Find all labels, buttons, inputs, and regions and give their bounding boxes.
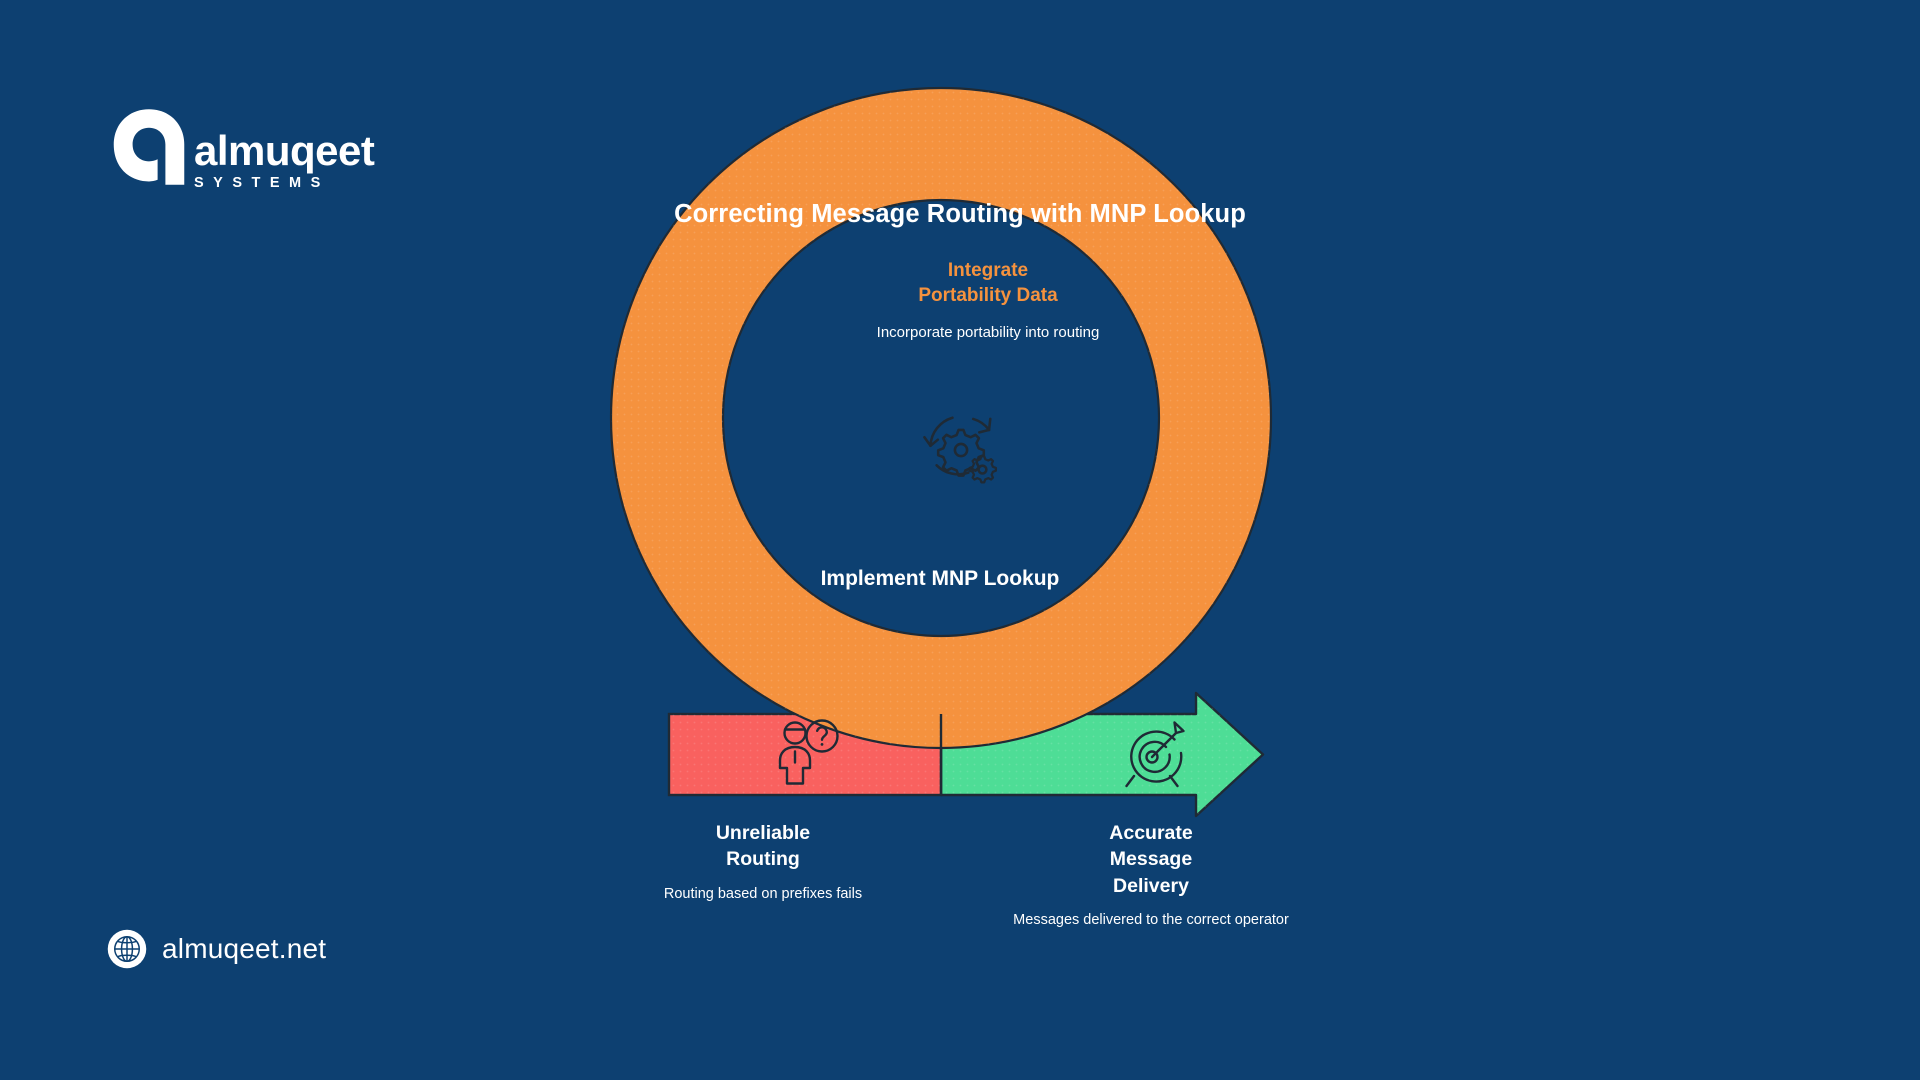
top-step-description: Incorporate portability into routing bbox=[828, 323, 1148, 343]
left-step-description: Routing based on prefixes fails bbox=[613, 885, 913, 904]
right-step-heading-line3: Delivery bbox=[1001, 873, 1301, 899]
gears-refresh-icon bbox=[924, 418, 995, 483]
footer-website: almuqeet.net bbox=[162, 933, 326, 965]
process-ring[interactable] bbox=[611, 88, 1271, 748]
top-step-label: Integrate Portability Data Incorporate p… bbox=[828, 258, 1148, 343]
right-step-label: Accurate Message Delivery Messages deliv… bbox=[1001, 820, 1301, 930]
brand-logo: almuqeet SYSTEMS bbox=[108, 104, 374, 190]
top-step-heading: Integrate Portability Data bbox=[828, 258, 1148, 309]
logo-subtitle: SYSTEMS bbox=[194, 176, 374, 191]
top-step-heading-line2: Portability Data bbox=[828, 283, 1148, 308]
top-step-heading-line1: Integrate bbox=[828, 258, 1148, 283]
footer[interactable]: almuqeet.net bbox=[106, 928, 326, 970]
left-step-heading-line2: Routing bbox=[613, 846, 913, 872]
right-step-description: Messages delivered to the correct operat… bbox=[1001, 911, 1301, 930]
page-title: Correcting Message Routing with MNP Look… bbox=[0, 200, 1920, 229]
right-step-heading: Accurate Message Delivery bbox=[1001, 820, 1301, 899]
left-step-heading-line1: Unreliable bbox=[613, 820, 913, 846]
logo-wordmark: almuqeet bbox=[194, 132, 374, 171]
globe-icon bbox=[106, 928, 148, 970]
right-step-heading-line1: Accurate bbox=[1001, 820, 1301, 846]
left-step-heading: Unreliable Routing bbox=[613, 820, 913, 873]
left-step-label: Unreliable Routing Routing based on pref… bbox=[613, 820, 913, 904]
right-step-heading-line2: Message bbox=[1001, 846, 1301, 872]
almuqeet-a-mark-icon bbox=[108, 106, 190, 188]
